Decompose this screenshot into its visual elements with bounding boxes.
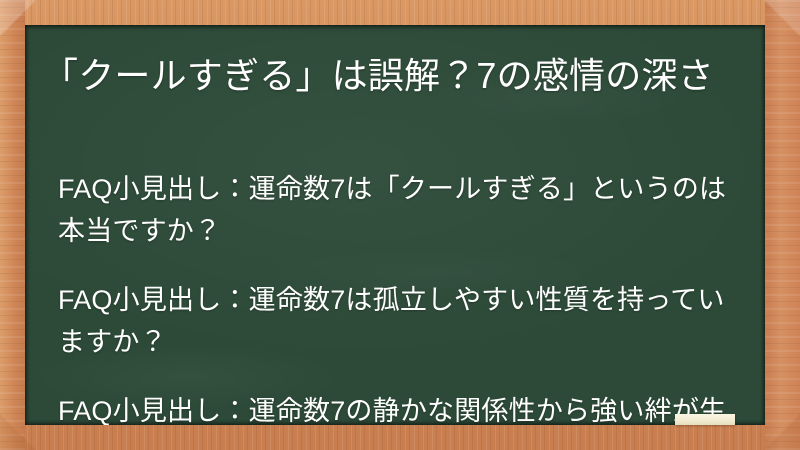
list-item: FAQ小見出し：運命数7の静かな関係性から強い絆が生まれるのはなぜですか？ <box>58 390 748 425</box>
chalkboard-card: 「クールすぎる」は誤解？7の感情の深さ FAQ小見出し：運命数7は「クールすぎる… <box>0 0 800 450</box>
board-frame-left-rail <box>0 0 25 450</box>
page-title: 「クールすぎる」は誤解？7の感情の深さ <box>42 53 742 99</box>
chalk-stick <box>675 414 735 425</box>
faq-list: FAQ小見出し：運命数7は「クールすぎる」というのは本当ですか？ FAQ小見出し… <box>58 141 748 425</box>
board-frame-right-rail <box>765 0 800 450</box>
list-item: FAQ小見出し：運命数7は「クールすぎる」というのは本当ですか？ <box>58 168 748 252</box>
chalkboard-surface: 「クールすぎる」は誤解？7の感情の深さ FAQ小見出し：運命数7は「クールすぎる… <box>25 25 765 425</box>
list-item: FAQ小見出し：運命数7は孤立しやすい性質を持っていますか？ <box>58 279 748 363</box>
